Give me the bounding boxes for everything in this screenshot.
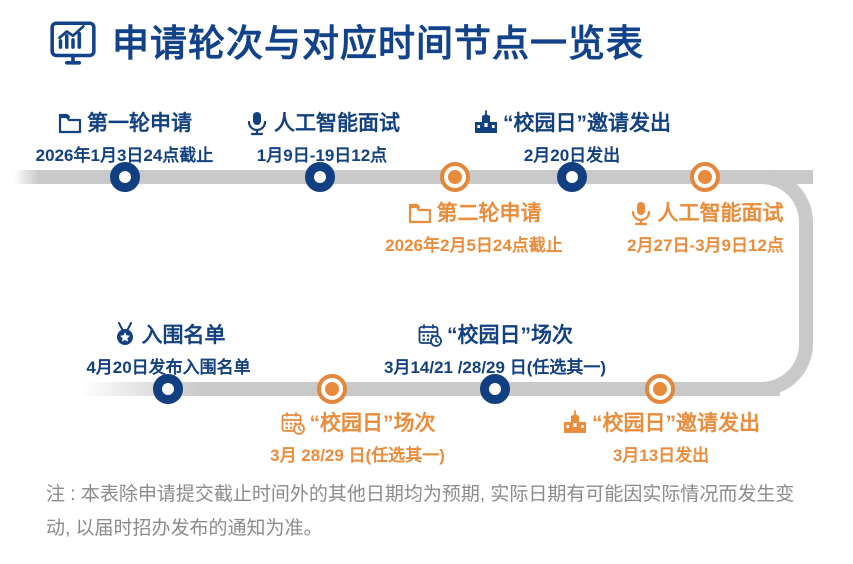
folder-icon	[407, 200, 433, 226]
school-icon	[562, 410, 588, 436]
event-date: 3月13日发出	[537, 441, 785, 466]
timeline-node-ai-interview-2[interactable]	[690, 162, 720, 192]
event-campus-day-session-2[interactable]: “校园日”场次 3月 28/29 日(任选其一)	[240, 410, 475, 466]
monitor-chart-icon	[48, 18, 98, 68]
timeline-node-campus-day-invite-2[interactable]	[645, 374, 675, 404]
event-shortlist[interactable]: 入围名单 4月20日发布入围名单	[66, 322, 271, 378]
timeline-node-campus-day-session-2[interactable]	[317, 374, 347, 404]
microphone-icon	[244, 110, 270, 136]
timeline-node-shortlist[interactable]	[153, 374, 183, 404]
event-date: 3月14/21 /28/29 日(任选其一)	[350, 353, 640, 378]
event-name: “校园日”场次	[310, 413, 436, 434]
event-date: 2026年1月3日24点截止	[22, 141, 227, 166]
event-name: “校园日”场次	[447, 325, 573, 346]
event-name: 第一轮申请	[87, 113, 192, 134]
event-round-1-application[interactable]: 第一轮申请 2026年1月3日24点截止	[22, 110, 227, 166]
event-campus-day-session-1[interactable]: “校园日”场次 3月14/21 /28/29 日(任选其一)	[350, 322, 640, 378]
event-campus-day-invite-2[interactable]: “校园日”邀请发出 3月13日发出	[537, 410, 785, 466]
timeline-node-campus-day-session-1[interactable]	[480, 374, 510, 404]
event-name: 人工智能面试	[658, 203, 784, 224]
timeline-node-round-1-application[interactable]	[110, 162, 140, 192]
event-name: 人工智能面试	[274, 113, 400, 134]
event-date: 2月20日发出	[448, 141, 696, 166]
microphone-icon	[628, 200, 654, 226]
calendar-clock-icon	[417, 322, 443, 348]
event-ai-interview-2[interactable]: 人工智能面试 2月27日-3月9日12点	[603, 200, 808, 256]
event-ai-interview-1[interactable]: 人工智能面试 1月9日-19日12点	[238, 110, 406, 166]
timeline-node-ai-interview-1[interactable]	[305, 162, 335, 192]
school-icon	[473, 110, 499, 136]
timeline-node-round-2-application[interactable]	[440, 162, 470, 192]
page-title: 申请轮次与对应时间节点一览表	[48, 18, 644, 68]
footnote: 注 : 本表除申请提交截止时间外的其他日期均为预期, 实际日期有可能因实际情况而…	[46, 478, 816, 546]
title-text: 申请轮次与对应时间节点一览表	[112, 25, 644, 62]
timeline-track-bottom	[80, 382, 780, 396]
event-date: 1月9日-19日12点	[238, 141, 406, 166]
folder-icon	[57, 110, 83, 136]
event-date: 2026年2月5日24点截止	[355, 231, 593, 256]
event-name: “校园日”邀请发出	[592, 413, 760, 434]
event-name: 入围名单	[142, 325, 226, 346]
timeline-node-campus-day-invite-1[interactable]	[557, 162, 587, 192]
event-name: 第二轮申请	[437, 203, 542, 224]
event-date: 3月 28/29 日(任选其一)	[240, 441, 475, 466]
event-campus-day-invite-1[interactable]: “校园日”邀请发出 2月20日发出	[448, 110, 696, 166]
event-round-2-application[interactable]: 第二轮申请 2026年2月5日24点截止	[355, 200, 593, 256]
event-name: “校园日”邀请发出	[503, 113, 671, 134]
medal-icon	[112, 322, 138, 348]
event-date: 2月27日-3月9日12点	[603, 231, 808, 256]
event-date: 4月20日发布入围名单	[66, 353, 271, 378]
calendar-clock-icon	[280, 410, 306, 436]
